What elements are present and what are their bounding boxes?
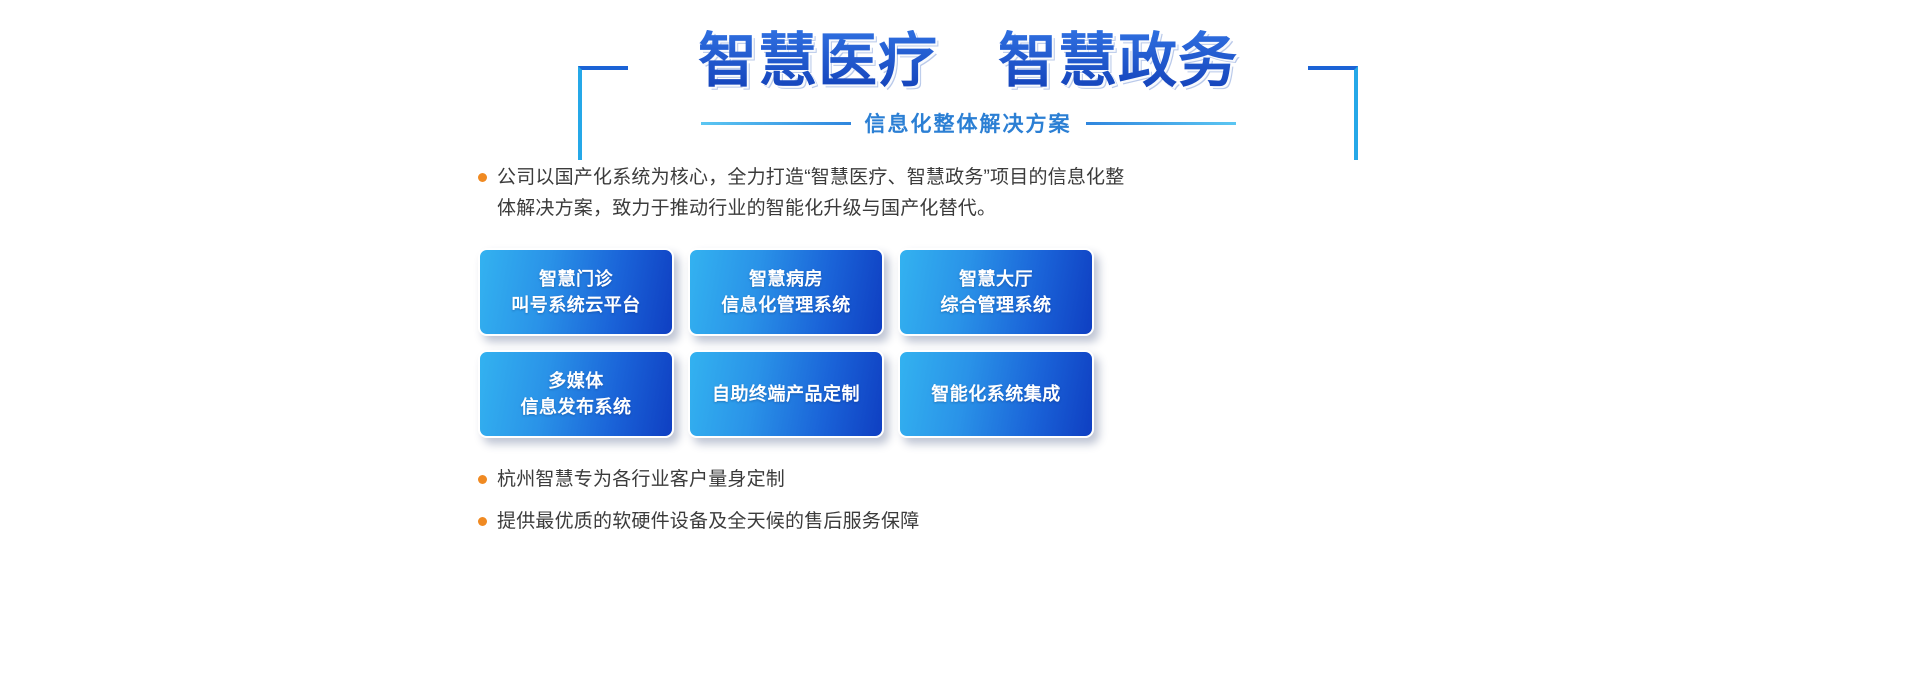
- tile-intelligent-integration[interactable]: 智能化系统集成: [898, 350, 1094, 438]
- solution-tile-grid: 智慧门诊 叫号系统云平台 智慧病房 信息化管理系统 智慧大厅 综合管理系统 多媒…: [478, 248, 1094, 438]
- page-root: 智慧医疗 智慧政务 智慧医疗 智慧政务 信息化整体解决方案 公司以国产化系统为核…: [0, 0, 1920, 680]
- subtitle-row: 信息化整体解决方案: [578, 108, 1358, 138]
- bullet-dot-icon: [478, 517, 487, 526]
- header-block: 智慧医疗 智慧政务 智慧医疗 智慧政务 信息化整体解决方案: [578, 30, 1358, 145]
- subtitle-rule-left: [701, 122, 851, 125]
- tile-label: 智慧门诊 叫号系统云平台: [511, 266, 641, 318]
- bullet-text: 杭州智慧专为各行业客户量身定制: [497, 468, 785, 492]
- tile-smart-hall[interactable]: 智慧大厅 综合管理系统: [898, 248, 1094, 336]
- tile-label: 智慧大厅 综合管理系统: [941, 266, 1052, 318]
- subtitle-text: 信息化整体解决方案: [865, 108, 1072, 138]
- feature-bullet-list: 杭州智慧专为各行业客户量身定制 提供最优质的软硬件设备及全天候的售后服务保障: [478, 468, 1138, 552]
- intro-paragraph: 公司以国产化系统为核心，全力打造“智慧医疗、智慧政务”项目的信息化整体解决方案，…: [478, 162, 1138, 224]
- tile-multimedia-publishing[interactable]: 多媒体 信息发布系统: [478, 350, 674, 438]
- tile-label: 自助终端产品定制: [712, 381, 860, 407]
- title-text: 智慧医疗 智慧政务: [698, 30, 1238, 94]
- list-item: 提供最优质的软硬件设备及全天候的售后服务保障: [478, 510, 1138, 534]
- subtitle-rule-right: [1086, 122, 1236, 125]
- bullet-text: 提供最优质的软硬件设备及全天候的售后服务保障: [497, 510, 919, 534]
- bullet-dot-icon: [478, 173, 487, 182]
- tile-smart-outpatient[interactable]: 智慧门诊 叫号系统云平台: [478, 248, 674, 336]
- tile-label: 多媒体 信息发布系统: [521, 368, 632, 420]
- tile-label: 智能化系统集成: [931, 381, 1061, 407]
- tile-self-service-terminal[interactable]: 自助终端产品定制: [688, 350, 884, 438]
- list-item: 杭州智慧专为各行业客户量身定制: [478, 468, 1138, 492]
- tile-label: 智慧病房 信息化管理系统: [721, 266, 851, 318]
- page-title: 智慧医疗 智慧政务 智慧医疗 智慧政务: [578, 30, 1358, 94]
- tile-smart-ward[interactable]: 智慧病房 信息化管理系统: [688, 248, 884, 336]
- bullet-dot-icon: [478, 475, 487, 484]
- intro-text: 公司以国产化系统为核心，全力打造“智慧医疗、智慧政务”项目的信息化整体解决方案，…: [497, 162, 1138, 224]
